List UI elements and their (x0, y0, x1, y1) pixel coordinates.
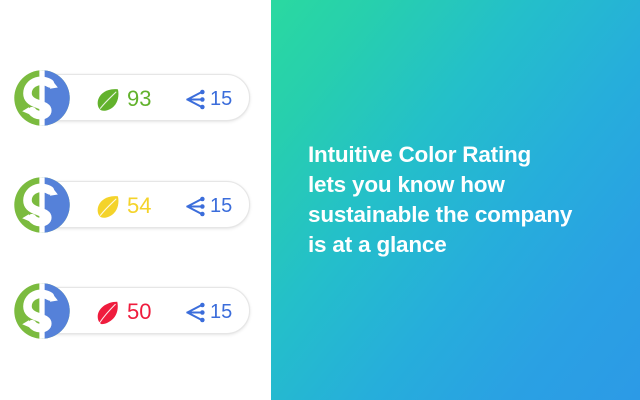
leaf-icon (95, 193, 122, 220)
share-count: 15 (210, 196, 232, 216)
share-count: 15 (210, 302, 232, 322)
share-group[interactable]: 15 (183, 84, 232, 114)
ratings-panel: 93 15 (0, 0, 271, 400)
leaf-icon (95, 86, 122, 113)
rating-card[interactable]: 93 15 (22, 74, 250, 121)
share-icon (183, 87, 208, 112)
headline-text: Intuitive Color Rating lets you know how… (308, 140, 633, 260)
promo-graphic: 93 15 (0, 0, 640, 400)
leaf-score-group: 50 (95, 296, 151, 328)
share-icon (183, 194, 208, 219)
share-group[interactable]: 15 (183, 297, 232, 327)
share-count: 15 (210, 89, 232, 109)
sustainability-s-logo-icon (9, 172, 75, 238)
share-icon (183, 300, 208, 325)
sustainability-s-logo-icon (9, 278, 75, 344)
gradient-panel: Intuitive Color Rating lets you know how… (271, 0, 640, 400)
sustainability-s-logo-icon (9, 65, 75, 131)
leaf-score-group: 54 (95, 190, 151, 222)
leaf-score-group: 93 (95, 83, 151, 115)
score-value: 54 (127, 195, 151, 217)
rating-card[interactable]: 54 15 (22, 181, 250, 228)
leaf-icon (95, 299, 122, 326)
score-value: 93 (127, 88, 151, 110)
rating-card[interactable]: 50 15 (22, 287, 250, 334)
score-value: 50 (127, 301, 151, 323)
share-group[interactable]: 15 (183, 191, 232, 221)
